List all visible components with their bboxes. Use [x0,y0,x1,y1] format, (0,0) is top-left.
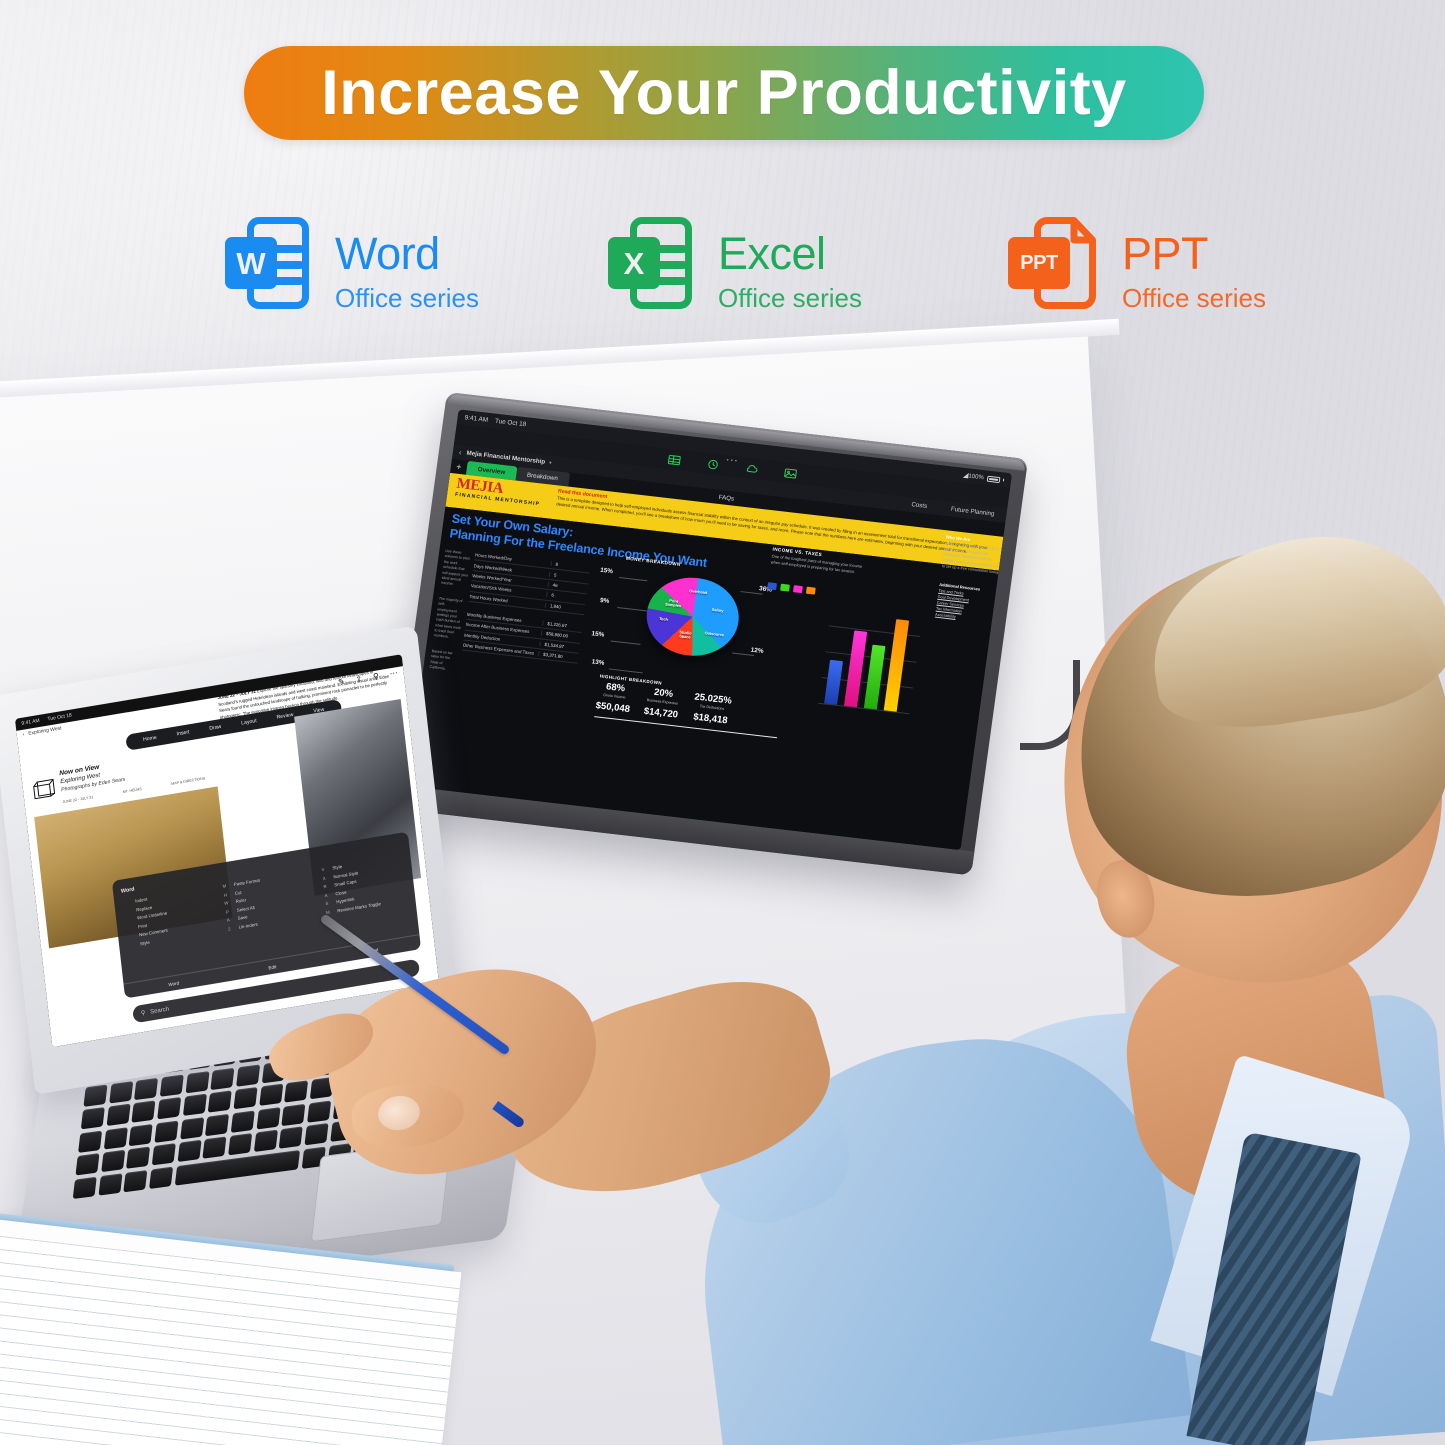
pie-graphic [642,573,744,661]
status-date: Tue Oct 18 [494,418,526,429]
legend-swatch-net-income [806,587,816,595]
nav-tab-future-planning[interactable]: Future Planning [950,506,994,518]
nav-tab-costs[interactable]: Costs [911,501,928,510]
shortcut-label[interactable]: Un-Indent [238,921,258,933]
bar-tax-deductions [864,645,886,710]
laptop-lid: 9:41 AM Tue Oct 18 ‹ Exploring West ✎ ⇪ … [0,625,462,1094]
doc-meta-dates: JUNE 22 - JULY 31 [62,795,93,804]
table-icon[interactable] [667,453,681,465]
cell-value: $3,371.80 [538,651,578,661]
laptop[interactable]: 9:41 AM Tue Oct 18 ‹ Exploring West ✎ ⇪ … [8,660,528,1280]
bar-net-income [884,619,909,712]
word-badge: W [225,237,277,289]
legend-swatch-business-expenses [793,585,803,593]
chevron-down-icon[interactable]: ▾ [549,460,552,466]
pie-value-tech: 15% [591,630,605,638]
cloud-icon[interactable] [744,462,758,474]
laptop-trackpad[interactable] [311,1139,452,1242]
salary-table[interactable]: HOURLY RATE40 Hours Worked/Day8 Days Wor… [462,550,591,664]
highlight-value: $50,048 [595,700,631,715]
back-chevron-icon[interactable]: ‹ [458,448,462,456]
excel-badge-letter: X [624,248,645,279]
clock-icon[interactable] [705,458,719,470]
notebook-lines [0,1235,460,1445]
doc-meta-venue: MT. HELMS [123,787,142,794]
battery-icon [986,475,1000,482]
headline-banner: Increase Your Productivity [244,46,1204,140]
search-placeholder: Search [150,1006,169,1015]
bar-business-expenses [844,630,867,707]
ppt-badge: PPT [1008,237,1070,289]
ppt-sublabel: Office series [1122,285,1266,311]
ppt-file-icon: PPT [1012,215,1104,319]
bar-chart-legend [767,582,828,596]
highlight-item: 20% Business Expenses $14,720 [643,687,681,720]
money-breakdown-pie-chart: MONEY BREAKDOWN Salary Outsource Studio … [611,558,757,684]
highlight-breakdown: HIGHLIGHT BREAKDOWN 68% Gross Income $50… [594,673,799,739]
ribbon-tab-review[interactable]: Review [276,712,293,721]
status-time: 9:41 AM [464,414,488,424]
ppt-label: PPT [1122,231,1266,276]
excel-badge: X [608,237,660,289]
side-note-2: The majority of self-employment settings… [433,596,465,642]
ribbon-tab-draw[interactable]: Draw [209,724,222,732]
search-icon: ⚲ [141,1009,146,1017]
side-note-1: Use these columns to plan the work sched… [441,549,472,589]
legend-swatch-gross-income [767,582,777,590]
pie-value-studio-space: 13% [591,658,605,666]
doc-meta-map: MAP & DIRECTIONS [171,777,205,787]
highlight-value: $18,418 [691,711,730,726]
highlight-item: 25.025% Tax Deductions $18,418 [691,693,732,727]
ribbon-tab-insert[interactable]: Insert [176,729,189,737]
word-badge-letter: W [236,248,265,279]
word-file-icon: W [225,215,317,319]
excel-label: Excel [718,231,862,276]
bar-gross-income [824,660,843,705]
excel-sublabel: Office series [718,285,862,311]
highlight-item: 68% Gross Income $50,048 [595,681,633,714]
drag-handle-dots[interactable]: ••• [726,458,739,465]
pie-value-overhead: 15% [600,567,614,575]
back-chevron-icon[interactable]: ‹ [22,732,24,738]
pie-slice-label-tech: Tech [659,617,668,622]
legend-swatch-tax-deductions [780,584,790,592]
ribbon-tab-home[interactable]: Home [143,735,157,743]
shortcut-key: 2 [225,925,233,935]
cube-logo-icon [32,775,60,801]
ppt-badge-letters: PPT [1020,253,1057,273]
pie-value-print-samples: 9% [600,597,610,605]
shortcut-key [127,941,135,951]
battery-indicator: 100% [968,473,1004,483]
ribbon-tab-layout[interactable]: Layout [241,718,257,727]
shortcut-label[interactable]: Style [140,939,151,949]
aside-body: MFM is a financial advisory firm special… [941,541,1002,576]
scene: Increase Your Productivity W Word Office… [0,0,1445,1445]
word-label: Word [335,231,479,276]
laptop-status-date: Tue Oct 18 [47,712,72,722]
battery-percent: 100% [968,473,984,481]
highlight-value: $14,720 [643,705,679,720]
office-app-ppt: PPT PPT Office series [1012,215,1266,319]
office-app-word: W Word Office series [225,215,479,319]
word-sublabel: Office series [335,285,479,311]
laptop-status-time: 9:41 AM [21,718,40,727]
shortcut-key: M [324,908,332,918]
office-apps-row: W Word Office series X Excel Office seri… [0,205,1445,345]
income-vs-taxes-bar-chart [818,604,923,714]
image-icon[interactable] [783,467,797,479]
pie-value-outsource: 12% [750,647,764,655]
laptop-screen[interactable]: 9:41 AM Tue Oct 18 ‹ Exploring West ✎ ⇪ … [15,654,439,1047]
word-app: 9:41 AM Tue Oct 18 ‹ Exploring West ✎ ⇪ … [15,654,439,1047]
office-app-excel: X Excel Office series [608,215,862,319]
excel-file-icon: X [608,215,700,319]
headline-text: Increase Your Productivity [321,62,1126,125]
